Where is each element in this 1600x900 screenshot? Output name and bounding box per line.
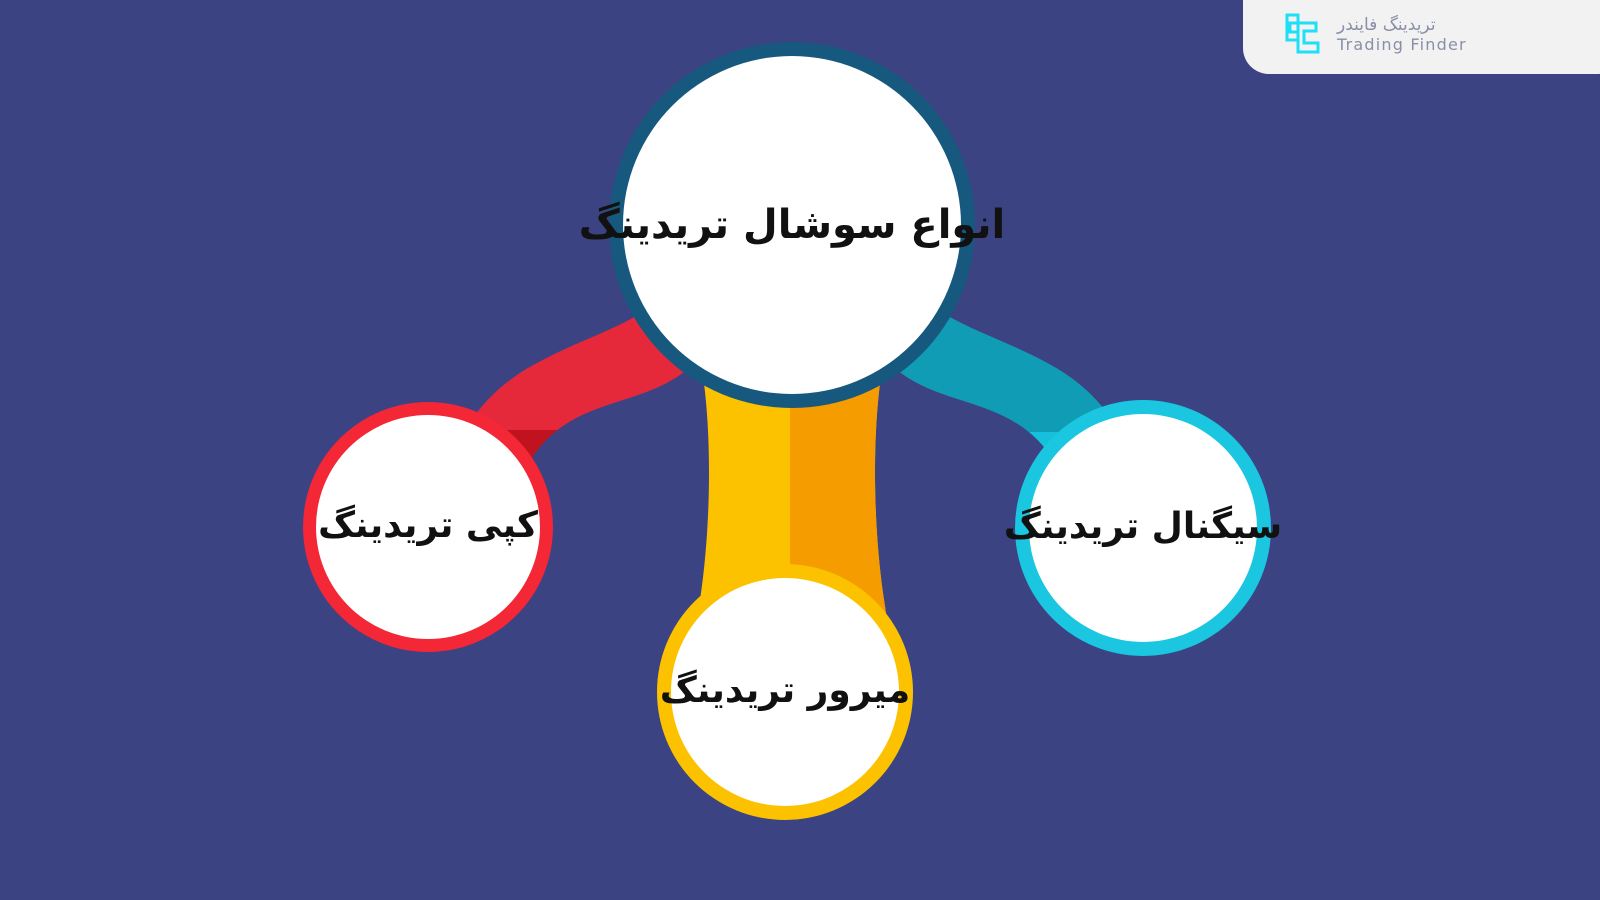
trading-finder-logo-icon [1283,12,1323,58]
node-circle-center[interactable] [609,42,975,408]
watermark-name-fa: تریدینگ فایندر [1337,16,1436,36]
node-circle-left[interactable] [303,402,553,652]
infographic-canvas: انواع سوشال تریدینگ کپی تریدینگ میرور تر… [0,0,1600,900]
node-circle-bottom[interactable] [657,564,913,820]
watermark-name-en: Trading Finder [1337,36,1467,54]
node-circle-right[interactable] [1015,400,1271,656]
diagram-svg [0,0,1600,900]
watermark-badge: تریدینگ فایندر Trading Finder [1243,0,1600,74]
watermark-text: تریدینگ فایندر Trading Finder [1337,16,1467,54]
